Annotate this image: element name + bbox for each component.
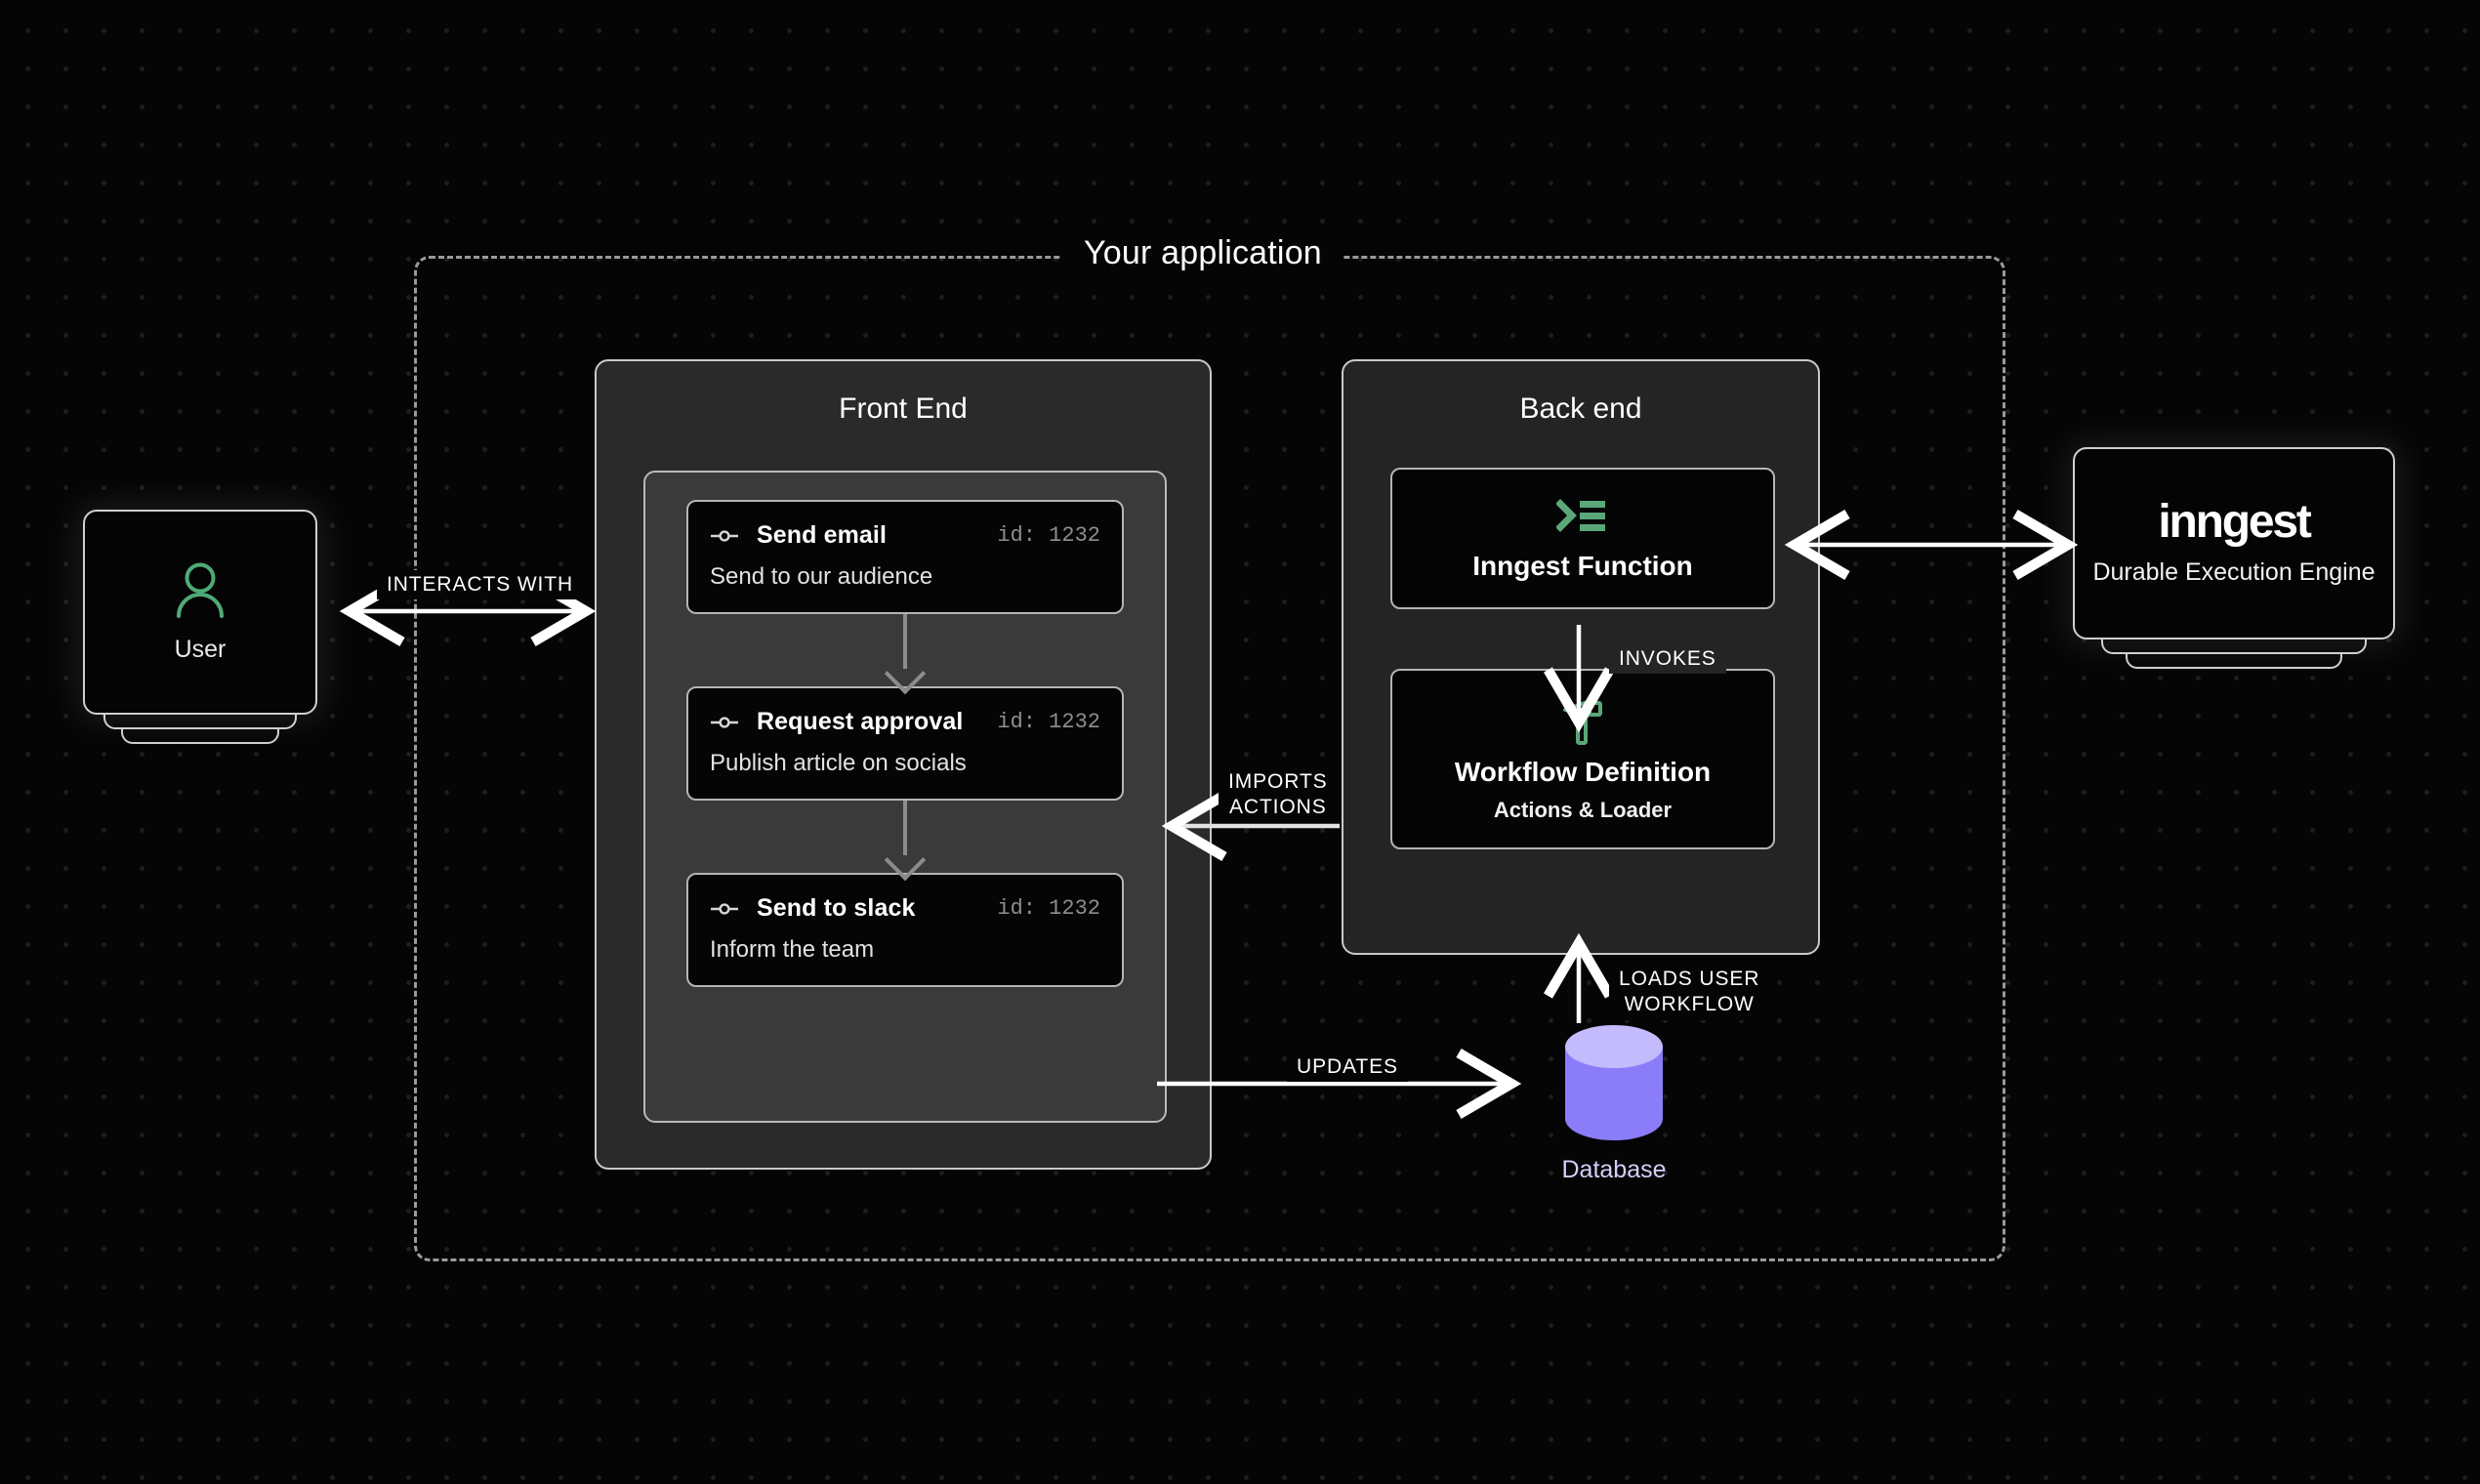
workflow-card-title: Request approval bbox=[757, 708, 963, 736]
workflow-card-id: id: 1232 bbox=[997, 710, 1100, 734]
terminal-icon bbox=[1556, 496, 1609, 535]
user-icon bbox=[173, 561, 227, 620]
backend-panel-title: Back end bbox=[1343, 392, 1818, 426]
edge-label-interacts-with: INTERACTS WITH bbox=[377, 570, 583, 599]
diagram-canvas: Your application bbox=[0, 0, 2480, 1484]
frontend-panel-title: Front End bbox=[597, 392, 1210, 426]
workflow-node-icon bbox=[710, 716, 739, 729]
workflow-card-description: Send to our audience bbox=[710, 563, 1100, 591]
workflow-card-title: Send to slack bbox=[757, 894, 915, 923]
workflow-card-id: id: 1232 bbox=[997, 523, 1100, 548]
inngest-wordmark: inngest bbox=[2158, 499, 2309, 546]
workflow-editor-container: Send email id: 1232 Send to our audience… bbox=[643, 471, 1167, 1123]
workflow-card[interactable]: Request approval id: 1232 Publish articl… bbox=[686, 686, 1124, 801]
user-node-stand-upper bbox=[103, 715, 297, 729]
workflow-definition-title: Workflow Definition bbox=[1455, 757, 1711, 788]
inngest-node-subtitle: Durable Execution Engine bbox=[2092, 557, 2375, 588]
workflow-card[interactable]: Send email id: 1232 Send to our audience bbox=[686, 500, 1124, 614]
user-node-label: User bbox=[175, 636, 227, 664]
user-node-stand-lower bbox=[121, 729, 279, 744]
workflow-card-header: Send to slack id: 1232 bbox=[710, 894, 1100, 923]
inngest-function-title: Inngest Function bbox=[1472, 551, 1693, 582]
workflow-connector-arrow bbox=[903, 614, 907, 686]
database-label: Database bbox=[1561, 1156, 1666, 1184]
user-node-screen: User bbox=[83, 510, 317, 715]
inngest-function-box[interactable]: Inngest Function bbox=[1390, 468, 1775, 609]
workflow-node-icon bbox=[710, 902, 739, 916]
inngest-node: inngest Durable Execution Engine bbox=[2073, 447, 2395, 669]
workflow-card[interactable]: Send to slack id: 1232 Inform the team bbox=[686, 873, 1124, 987]
inngest-node-screen: inngest Durable Execution Engine bbox=[2073, 447, 2395, 639]
database-cylinder-icon bbox=[1560, 1025, 1668, 1140]
workflow-card-header: Request approval id: 1232 bbox=[710, 708, 1100, 736]
workflow-card-description: Inform the team bbox=[710, 936, 1100, 964]
backend-panel: Back end Inngest Function Workflow Defin… bbox=[1342, 359, 1820, 955]
hammer-icon bbox=[1558, 696, 1607, 747]
frontend-panel: Front End Send email id: 1232 Send to ou… bbox=[595, 359, 1212, 1170]
edge-label-updates: UPDATES bbox=[1287, 1052, 1408, 1082]
application-boundary-title: Your application bbox=[1062, 234, 1343, 272]
workflow-node-icon bbox=[710, 529, 739, 543]
edge-label-invokes: INVOKES bbox=[1609, 644, 1726, 674]
workflow-definition-subtitle: Actions & Loader bbox=[1494, 798, 1672, 823]
workflow-definition-box[interactable]: Workflow Definition Actions & Loader bbox=[1390, 669, 1775, 849]
inngest-node-stand-lower bbox=[2126, 654, 2342, 669]
database-node[interactable]: Database bbox=[1526, 1025, 1702, 1184]
edge-label-imports-actions: IMPORTS ACTIONS bbox=[1219, 767, 1338, 823]
edge-label-loads-user-workflow: LOADS USER WORKFLOW bbox=[1609, 965, 1769, 1020]
workflow-connector-arrow bbox=[903, 801, 907, 873]
user-node: User bbox=[83, 510, 317, 744]
workflow-card-header: Send email id: 1232 bbox=[710, 521, 1100, 550]
inngest-node-stand-upper bbox=[2101, 639, 2367, 654]
workflow-card-id: id: 1232 bbox=[997, 896, 1100, 921]
workflow-card-description: Publish article on socials bbox=[710, 750, 1100, 777]
workflow-card-title: Send email bbox=[757, 521, 887, 550]
